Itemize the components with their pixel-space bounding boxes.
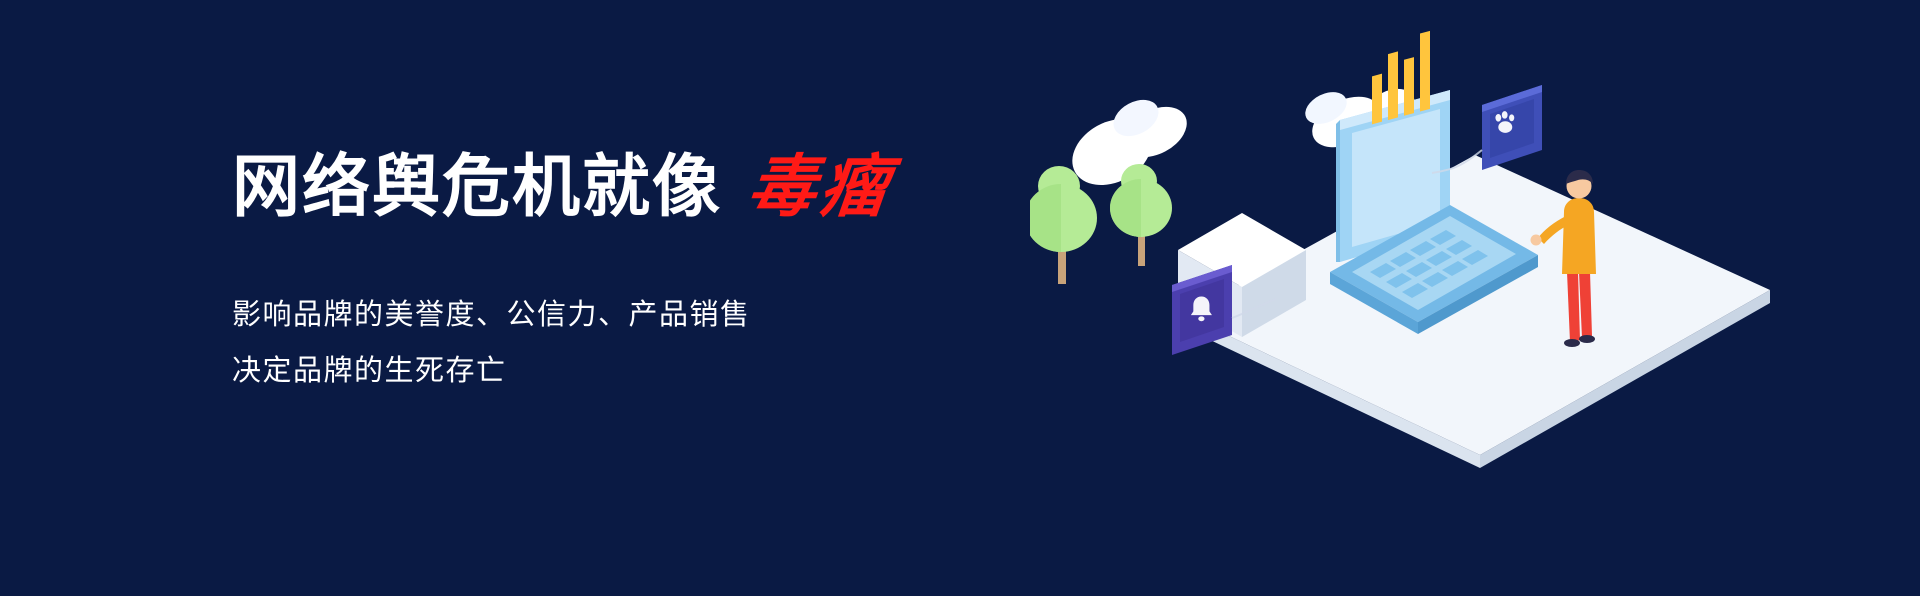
panel-paw-icon [1482,85,1542,170]
subtitle-block: 影响品牌的美誉度、公信力、产品销售 决定品牌的生死存亡 [232,287,992,400]
illustration [1030,0,1920,596]
page-title: 网络舆危机就像毒瘤 [232,150,992,225]
subtitle-line-2: 决定品牌的生死存亡 [232,343,992,400]
headline-highlight-text: 毒瘤 [744,150,896,225]
tree-left [1030,166,1097,284]
subtitle-line-1: 影响品牌的美誉度、公信力、产品销售 [232,287,992,344]
headline-white-text: 网络舆危机就像 [232,149,722,225]
text-block: 网络舆危机就像毒瘤 影响品牌的美誉度、公信力、产品销售 决定品牌的生死存亡 [232,150,992,400]
promotional-banner: 网络舆危机就像毒瘤 影响品牌的美誉度、公信力、产品销售 决定品牌的生死存亡 [0,0,1920,596]
